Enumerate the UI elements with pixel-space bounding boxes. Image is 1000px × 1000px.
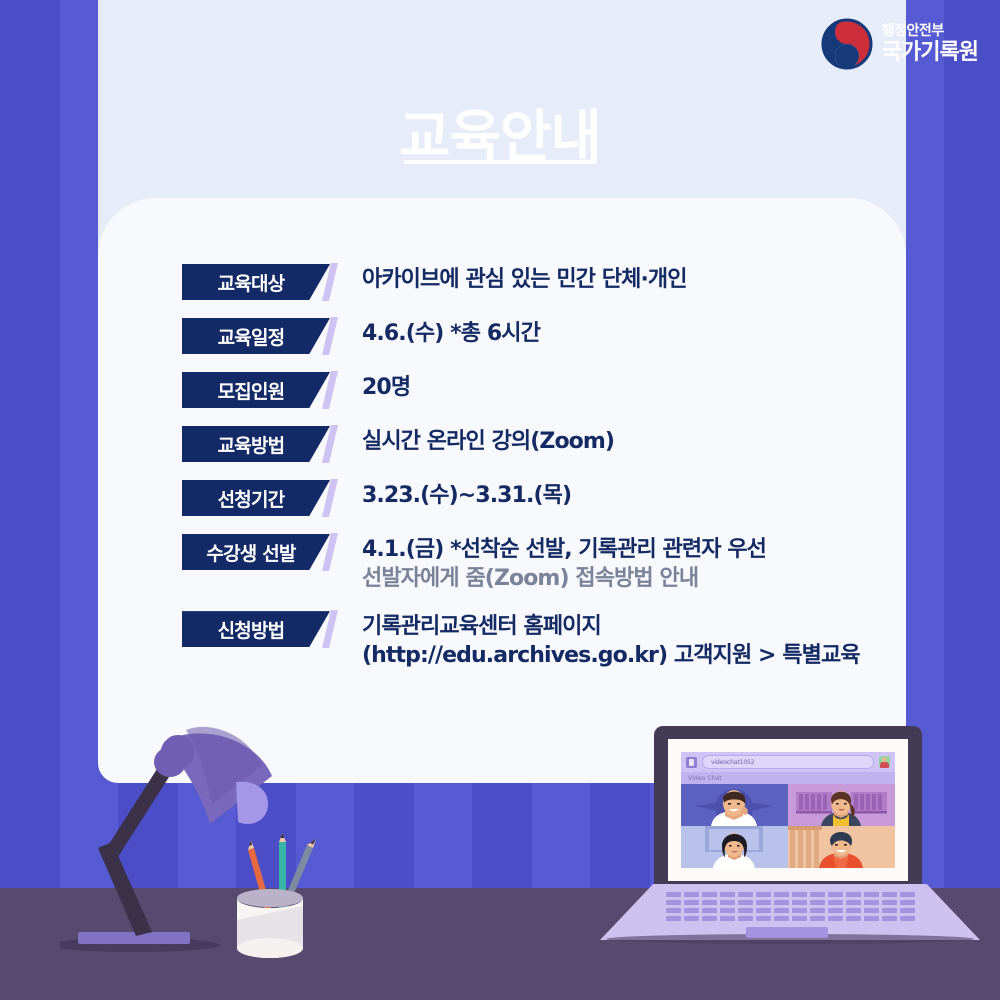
row-tag: 수강생 선발 [182,534,340,570]
participant-tile[interactable] [681,784,788,826]
row-label: 교육대상 [218,269,285,296]
keyboard-row [666,908,915,913]
row-tag: 모집인원 [182,372,340,408]
row-label: 수강생 선발 [206,539,295,566]
row-label: 모집인원 [218,377,285,404]
browser-url-text: videochat1052 [711,759,755,766]
participant-tile[interactable] [788,826,895,868]
row-value-line: 3.23.(수)~3.31.(목) [362,481,882,510]
row-tag: 선청기간 [182,480,340,516]
korea-government-taegeuk-emblem-icon [821,18,873,70]
browser-favicon-icon [686,757,697,768]
info-row: 수강생 선발 4.1.(금) *선착순 선발, 기록관리 관련자 우선 선발자에… [182,534,882,593]
person-avatar-icon [788,784,895,826]
row-tag-shape: 선청기간 [182,480,330,516]
row-tag: 교육일정 [182,318,340,354]
row-value-line: 20명 [362,373,882,402]
participant-tile[interactable] [788,784,895,826]
keyboard-row [666,892,915,897]
row-values: 기록관리교육센터 홈페이지 (http://edu.archives.go.kr… [340,611,882,670]
person-avatar-icon [681,826,788,868]
info-card: 교육대상 아카이브에 관심 있는 민간 단체·개인 교육일정 4.6.(수) *… [98,198,906,783]
row-value-line-note: 선발자에게 줌(Zoom) 접속방법 안내 [362,564,882,593]
pencil-cup-icon [215,820,325,960]
participant-grid [681,784,895,868]
info-row: 교육일정 4.6.(수) *총 6시간 [182,318,882,354]
agency-name: 국가기록원 [882,42,978,64]
row-value-line: 4.1.(금) *선착순 선발, 기록관리 관련자 우선 [362,535,882,564]
info-row-list: 교육대상 아카이브에 관심 있는 민간 단체·개인 교육일정 4.6.(수) *… [182,264,882,670]
info-row: 모집인원 20명 [182,372,882,408]
row-label: 선청기간 [218,485,285,512]
emblem-text-block: 행정안전부 국가기록원 [882,24,978,64]
video-chat-window: videochat1052 Video Chat [681,752,895,868]
info-row: 교육대상 아카이브에 관심 있는 민간 단체·개인 [182,264,882,300]
row-values: 3.23.(수)~3.31.(목) [340,480,882,510]
row-tag-shape: 교육대상 [182,264,330,300]
ministry-name: 행정안전부 [882,24,978,38]
row-value-line: 4.6.(수) *총 6시간 [362,319,882,348]
person-avatar-icon [681,784,788,826]
row-tag-shape: 신청방법 [182,611,330,647]
keyboard-row [666,900,915,905]
row-value-line: 기록관리교육센터 홈페이지 [362,612,882,641]
info-row: 선청기간 3.23.(수)~3.31.(목) [182,480,882,516]
row-tag: 교육대상 [182,264,340,300]
laptop-keyboard[interactable] [652,892,928,922]
row-tag-shape: 수강생 선발 [182,534,330,570]
row-value-line: 실시간 온라인 강의(Zoom) [362,427,882,456]
person-avatar-icon [788,826,895,868]
participant-tile[interactable] [681,826,788,868]
keyboard-row [666,916,915,921]
video-chat-tab-label: Video Chat [688,775,722,782]
row-tag-shape: 교육일정 [182,318,330,354]
poster-canvas: 행정안전부 국가기록원 교육안내 교육대상 아카이브에 관심 있는 민간 단체·… [0,0,1000,1000]
row-values: 4.1.(금) *선착순 선발, 기록관리 관련자 우선 선발자에게 줌(Zoo… [340,534,882,593]
row-tag: 교육방법 [182,426,340,462]
title-underline [404,160,596,164]
row-label: 교육방법 [218,431,285,458]
row-tag: 신청방법 [182,611,340,647]
row-tag-shape: 교육방법 [182,426,330,462]
info-row: 교육방법 실시간 온라인 강의(Zoom) [182,426,882,462]
row-values: 실시간 온라인 강의(Zoom) [340,426,882,456]
laptop-trackpad[interactable] [746,927,828,938]
row-values: 아카이브에 관심 있는 민간 단체·개인 [340,264,882,294]
row-label: 신청방법 [218,616,285,643]
video-chat-tab[interactable]: Video Chat [681,772,895,784]
row-values: 4.6.(수) *총 6시간 [340,318,882,348]
browser-toolbar: videochat1052 [681,752,895,772]
laptop-icon: videochat1052 Video Chat [600,726,980,956]
user-avatar-icon[interactable] [879,756,890,768]
row-value-line: 아카이브에 관심 있는 민간 단체·개인 [362,265,882,294]
info-row: 신청방법 기록관리교육센터 홈페이지 (http://edu.archives.… [182,611,882,670]
agency-emblem-block: 행정안전부 국가기록원 [821,18,978,70]
row-label: 교육일정 [218,323,285,350]
browser-url-bar[interactable]: videochat1052 [702,755,874,769]
row-tag-shape: 모집인원 [182,372,330,408]
row-value-line-url: (http://edu.archives.go.kr) 고객지원 > 특별교육 [362,641,882,670]
row-values: 20명 [340,372,882,402]
